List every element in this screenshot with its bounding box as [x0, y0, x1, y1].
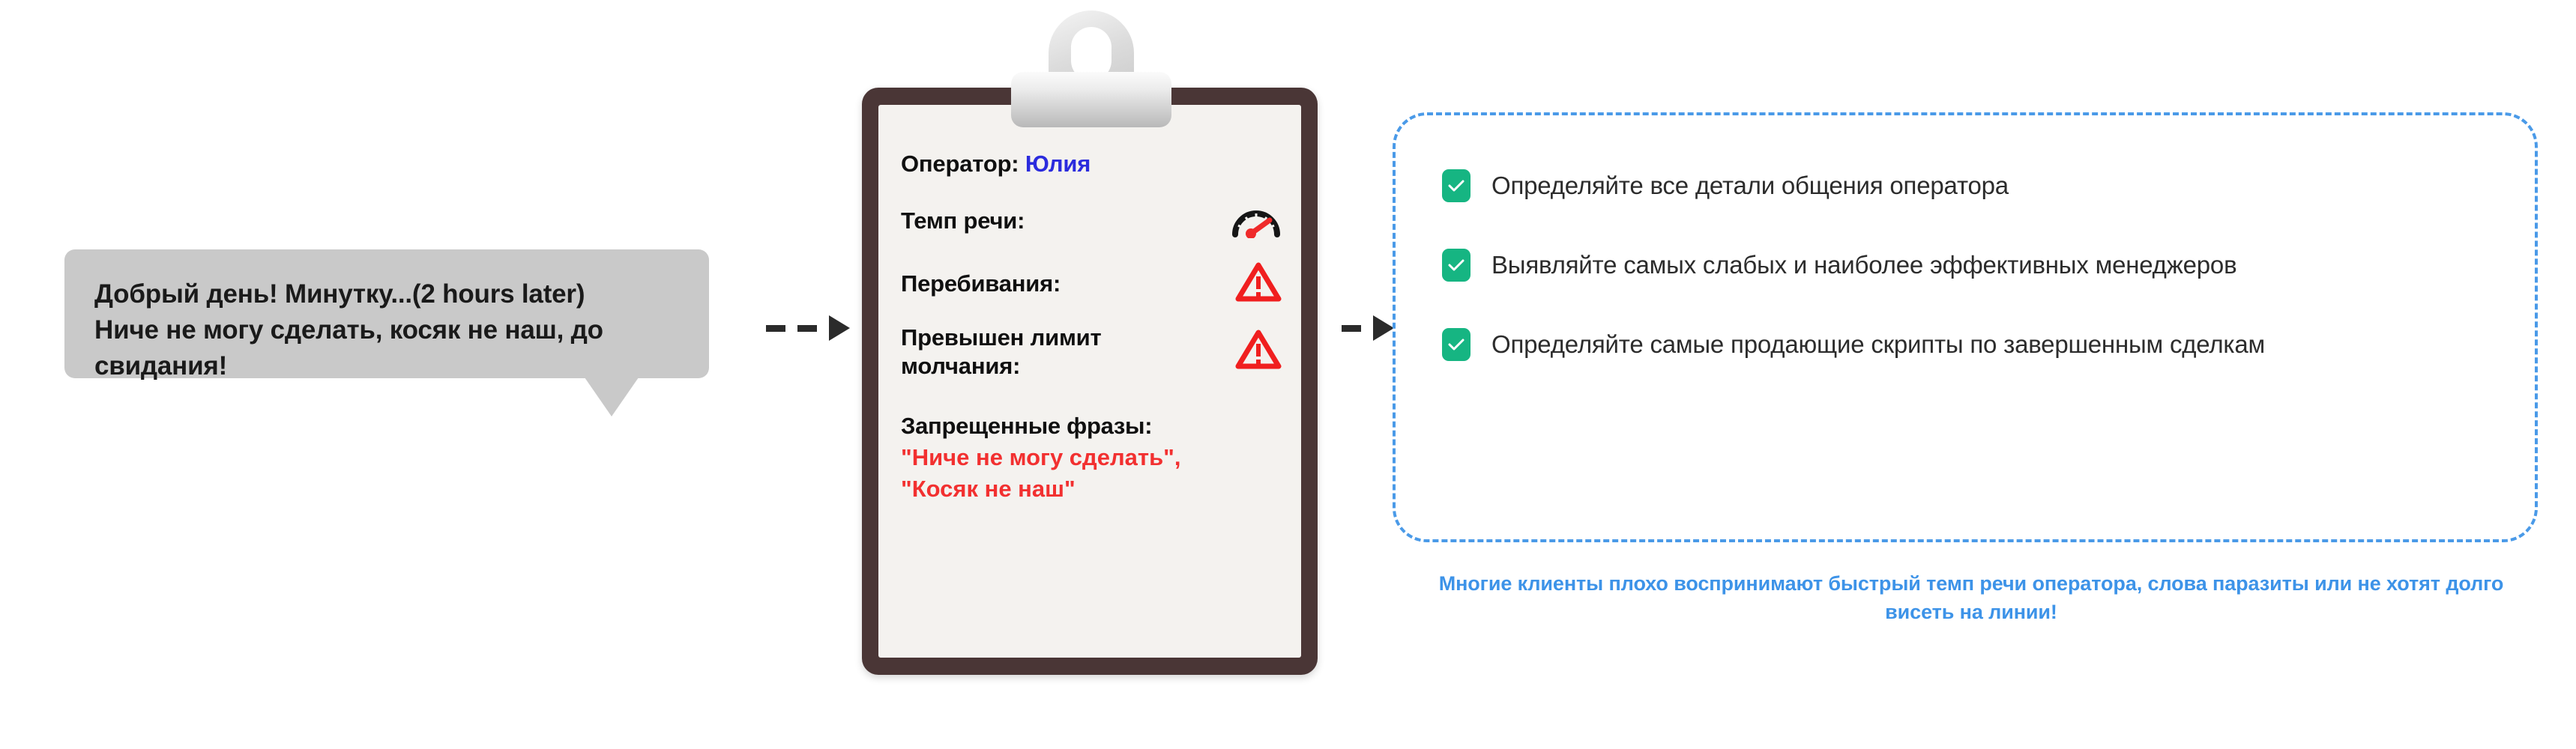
- arrow-dash-segment: [797, 325, 817, 332]
- caption-text: Многие клиенты плохо воспринимают быстры…: [1409, 569, 2533, 627]
- clipboard-row-interruptions: Перебивания:: [901, 261, 1282, 307]
- check-icon: [1442, 249, 1471, 282]
- clip-bar: [1011, 72, 1171, 127]
- arrow-dash-segment: [766, 325, 785, 332]
- speech-tempo-label: Темп речи:: [901, 207, 1025, 235]
- benefit-list-item: Определяйте все детали общения оператора: [1442, 169, 2490, 202]
- warning-triangle-icon: [1235, 261, 1282, 307]
- clipboard-row-operator: Оператор: Юлия: [901, 150, 1282, 178]
- silence-limit-label: Превышен лимит молчания:: [901, 324, 1193, 380]
- customer-speech-bubble: Добрый день! Минутку...(2 hours later) Н…: [64, 249, 709, 378]
- flow-arrow-clipboard-to-benefits: [1342, 321, 1394, 336]
- speech-bubble-text: Добрый день! Минутку...(2 hours later) Н…: [94, 276, 679, 384]
- arrow-head-icon: [829, 315, 850, 341]
- call-report-clipboard: Оператор: Юлия Темп речи:: [862, 88, 1318, 675]
- clipboard-row-silence-limit: Превышен лимит молчания:: [901, 324, 1282, 380]
- benefits-panel: Определяйте все детали общения оператора…: [1393, 112, 2538, 542]
- speech-bubble-tail: [585, 377, 639, 416]
- clipboard-forbidden-phrases-block: Запрещенные фразы: "Ниче не могу сделать…: [901, 413, 1282, 503]
- forbidden-phrases-label: Запрещенные фразы:: [901, 413, 1282, 440]
- forbidden-phrases-value: "Ниче не могу сделать", "Косяк не наш": [901, 442, 1186, 503]
- arrow-dash-segment: [1342, 325, 1361, 332]
- operator-name: Юлия: [1025, 151, 1091, 177]
- benefit-item-label: Выявляйте самых слабых и наиболее эффект…: [1491, 250, 2236, 280]
- interruptions-label: Перебивания:: [901, 270, 1061, 298]
- clipboard-clip-icon: [1011, 10, 1171, 132]
- clipboard-row-speech-tempo: Темп речи:: [901, 201, 1282, 242]
- flow-arrow-bubble-to-clipboard: [766, 321, 850, 336]
- speedometer-icon: [1231, 201, 1282, 242]
- benefit-list-item: Выявляйте самых слабых и наиболее эффект…: [1442, 249, 2490, 282]
- benefit-list-item: Определяйте самые продающие скрипты по з…: [1442, 328, 2490, 361]
- benefit-item-label: Определяйте все детали общения оператора: [1491, 171, 2009, 201]
- arrow-head-icon: [1373, 315, 1394, 341]
- operator-label: Оператор:: [901, 151, 1025, 177]
- operator-line: Оператор: Юлия: [901, 150, 1091, 178]
- check-icon: [1442, 169, 1471, 202]
- check-icon: [1442, 328, 1471, 361]
- clipboard-paper: Оператор: Юлия Темп речи:: [878, 105, 1301, 658]
- benefit-item-label: Определяйте самые продающие скрипты по з…: [1491, 330, 2265, 360]
- warning-triangle-icon: [1235, 329, 1282, 374]
